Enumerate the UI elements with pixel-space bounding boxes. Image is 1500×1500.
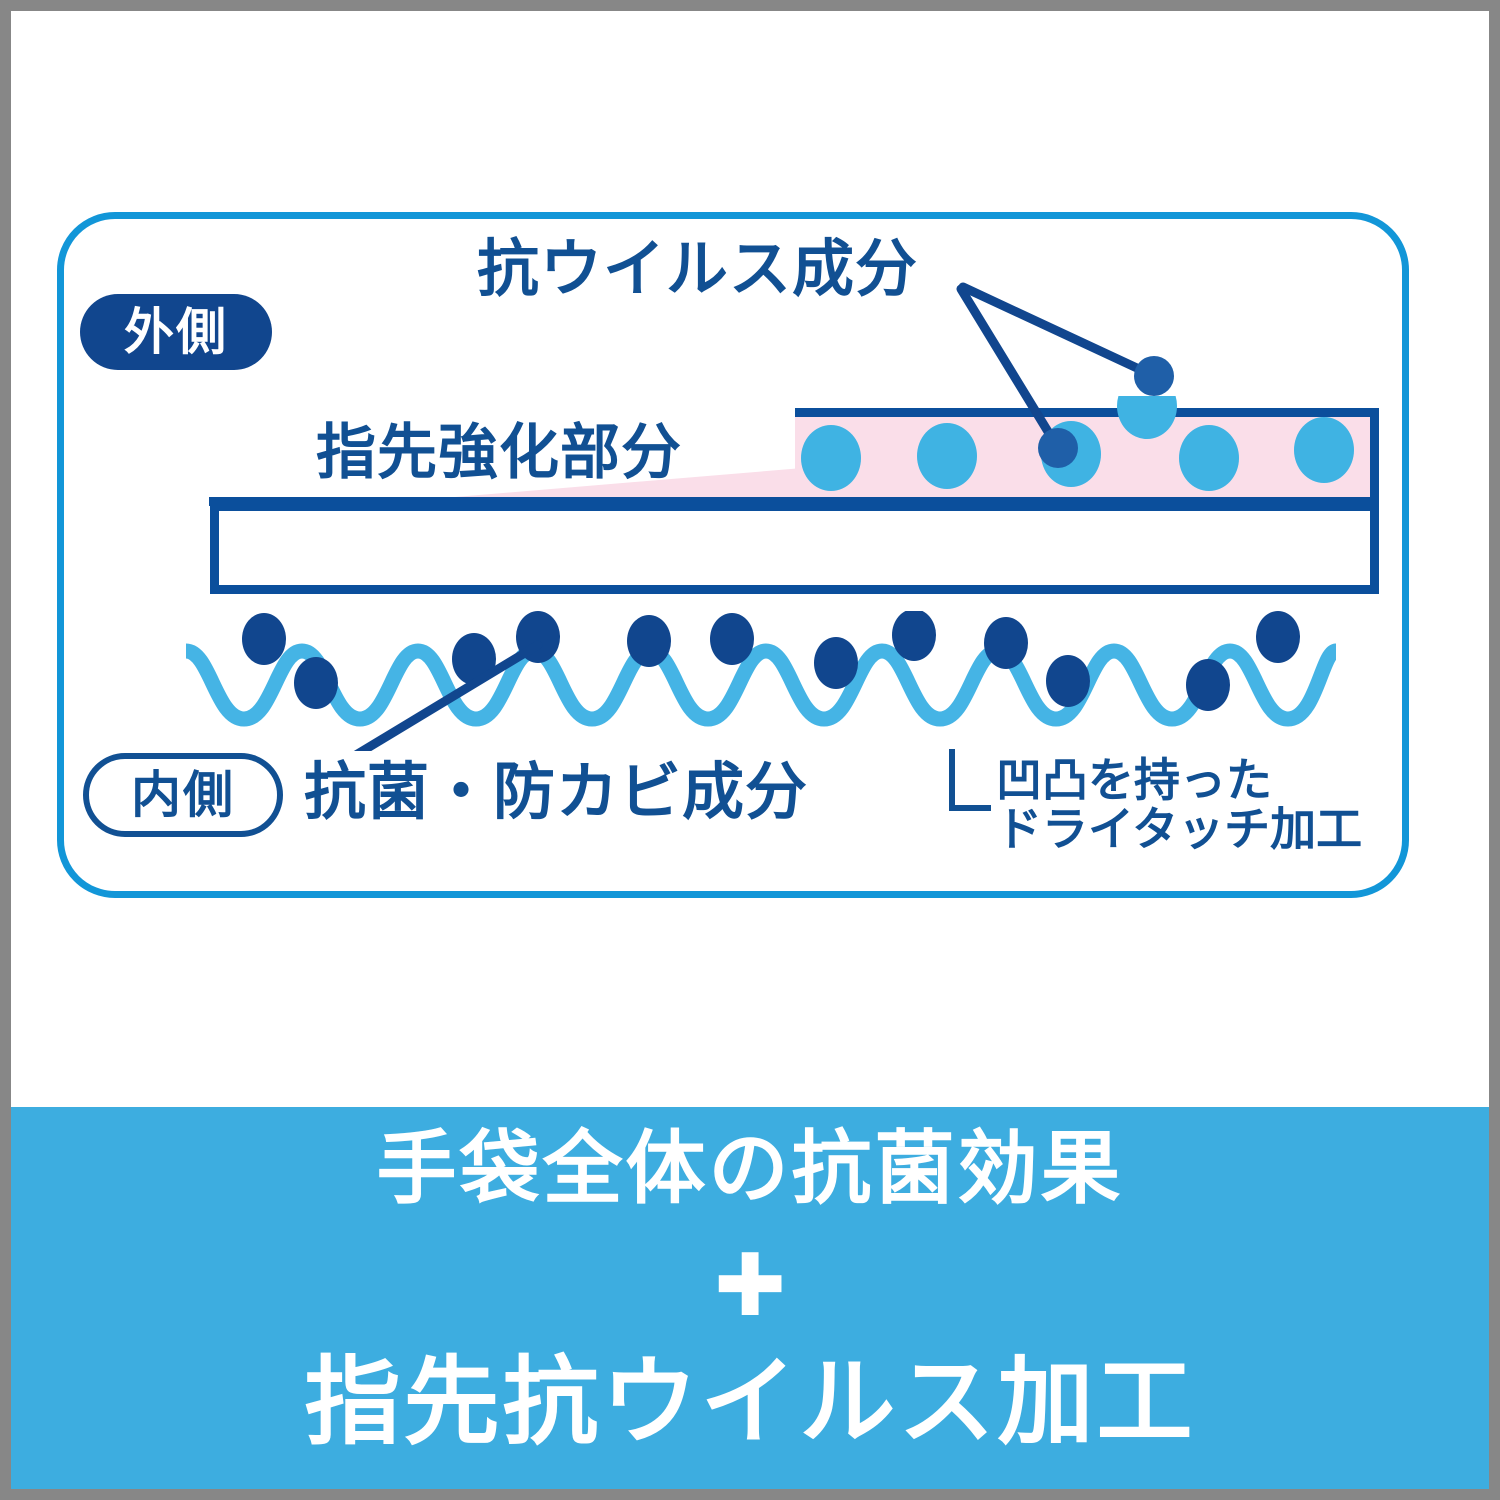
dry-touch-callout: 凹凸を持った ドライタッチ加工 [996,756,1362,854]
base-material-layer [210,502,1379,594]
banner-line-1: 手袋全体の抗菌効果 [377,1129,1124,1209]
summary-banner: 手袋全体の抗菌効果 ✚ 指先抗ウイルス加工 [11,1107,1489,1489]
antibacterial-particles [186,611,1336,751]
antiviral-ingredient-label: 抗ウイルス成分 [477,239,918,301]
banner-line-2: 指先抗ウイルス加工 [305,1355,1196,1451]
inner-side-badge: 内側 [83,753,283,837]
dry-touch-line-1: 凹凸を持った [996,756,1362,805]
bracket-icon [949,749,991,811]
poster-root: 外側 抗ウイルス成分 指先強化部分 内側 抗菌・防カビ成分 凹凸を持った ドライ… [11,11,1489,1489]
outer-side-badge-label: 外側 [124,307,228,357]
dry-touch-line-2: ドライタッチ加工 [996,805,1362,854]
antibacterial-antimold-label: 抗菌・防カビ成分 [304,762,808,824]
fingertip-reinforcement-label: 指先強化部分 [316,423,682,483]
outer-side-badge: 外側 [80,294,272,370]
plus-icon: ✚ [714,1243,786,1329]
inner-side-badge-label: 内側 [131,770,235,820]
diagram-area: 外側 抗ウイルス成分 指先強化部分 内側 抗菌・防カビ成分 凹凸を持った ドライ… [11,11,1489,1107]
